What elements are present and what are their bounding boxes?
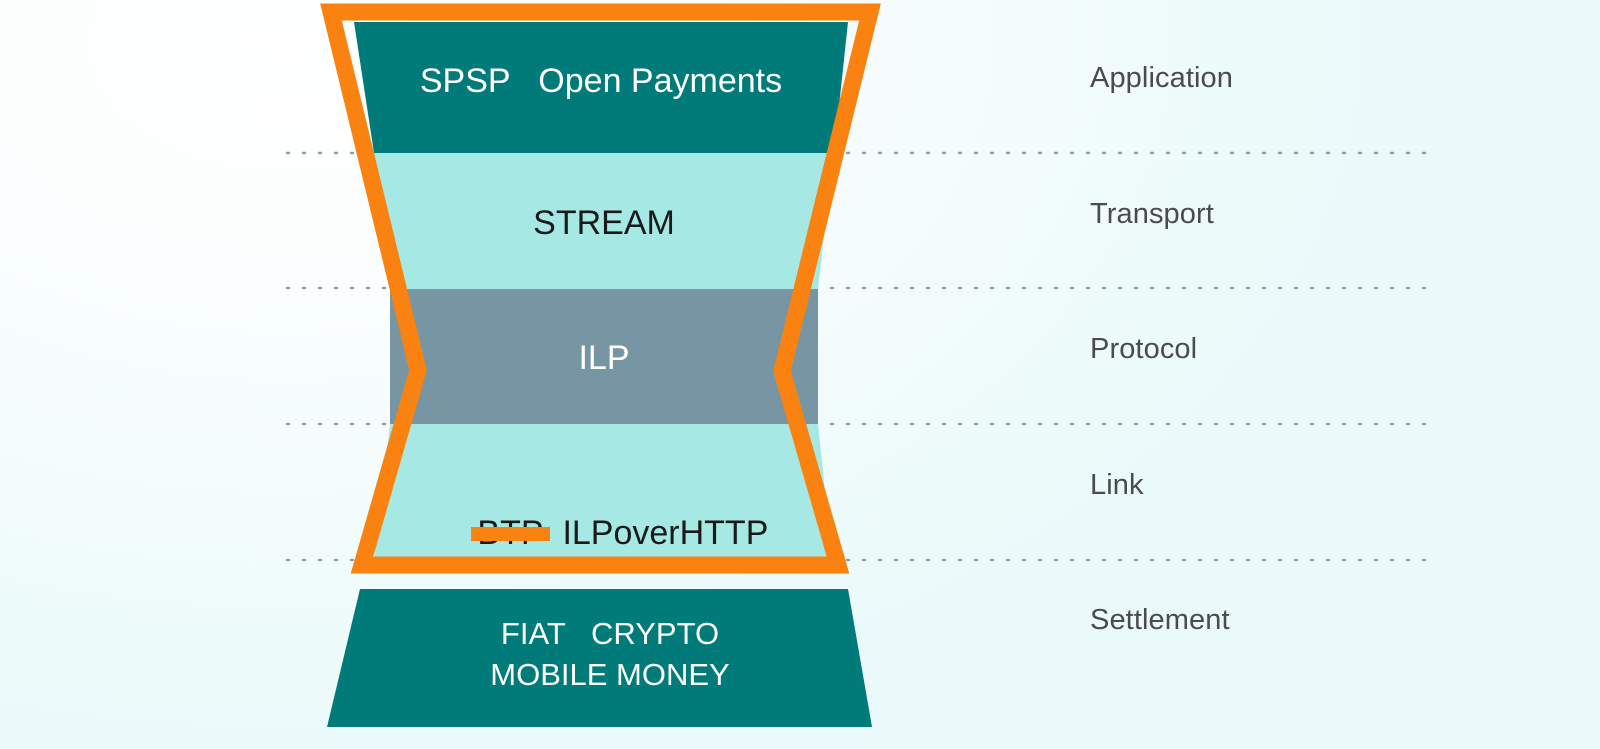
layer-label-settlement: Settlement bbox=[1090, 604, 1230, 637]
layer-label-application: Application bbox=[1090, 62, 1233, 95]
layer-text-settlement-line1: FIAT CRYPTO bbox=[360, 616, 860, 652]
layer-text-protocol: ILP bbox=[390, 339, 818, 378]
layer-text-link: BTP ILPoverHTTP bbox=[390, 475, 818, 592]
layer-label-link: Link bbox=[1090, 469, 1144, 502]
diagram-canvas: SPSP Open Payments STREAM ILP BTP ILPove… bbox=[0, 0, 1600, 749]
layer-text-transport: STREAM bbox=[374, 204, 834, 243]
layer-label-transport: Transport bbox=[1090, 198, 1214, 231]
layer-text-application: SPSP Open Payments bbox=[354, 62, 848, 101]
strikethrough-bar-icon bbox=[471, 527, 549, 541]
struck-protocol-btp: BTP bbox=[477, 514, 543, 553]
layer-label-protocol: Protocol bbox=[1090, 333, 1197, 366]
link-protocol-ilpoverhttp-label: ILPoverHTTP bbox=[562, 514, 768, 552]
layer-text-settlement-line2: MOBILE MONEY bbox=[360, 657, 860, 693]
